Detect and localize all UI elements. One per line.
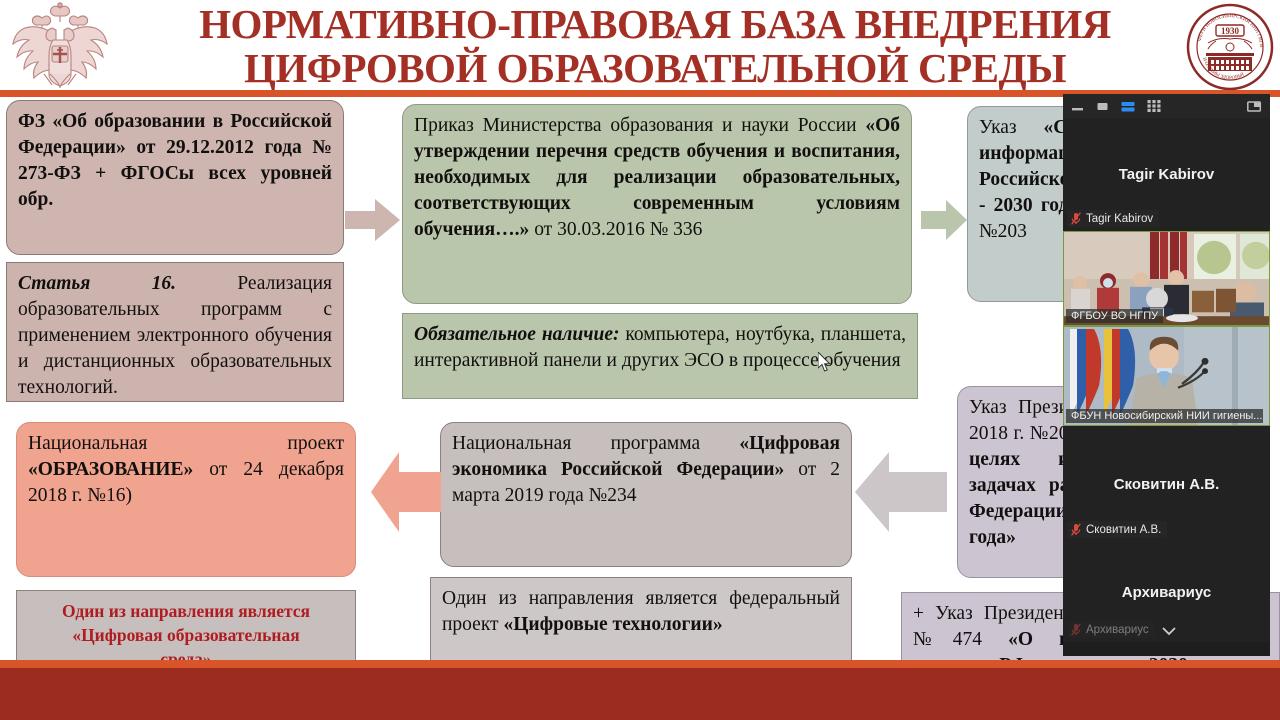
grid-view-icon[interactable] (1147, 99, 1161, 113)
box-federal-law-text: ФЗ «Об образовании в Российской Федераци… (18, 111, 332, 210)
maximize-icon[interactable] (1096, 100, 1109, 113)
box-direction-digital-technologies: Один из направления является федеральный… (430, 577, 852, 661)
arrow-right-order-to-decree (921, 196, 967, 244)
picture-in-picture-icon[interactable] (1247, 100, 1262, 113)
minimize-icon[interactable] (1071, 100, 1084, 113)
mic-muted-icon (1071, 523, 1081, 536)
video-tile-nii-gigieny[interactable]: ФБУН Новосибирский НИИ гигиены... (1063, 326, 1270, 426)
box-digital-economy-program-prefix: Национальная программа (452, 433, 739, 454)
box-national-project-education-quote: «ОБРАЗОВАНИЕ» (28, 459, 193, 480)
box-ministry-order-prefix: Приказ Министерства образования и науки … (414, 115, 865, 136)
video-tile-tagir-kabirov[interactable]: Tagir Kabirov Tagir Kabirov (1063, 118, 1270, 231)
footer-accent-bar (0, 660, 1280, 668)
video-tile-label-text: Архивариус (1086, 624, 1149, 636)
logo-year: 1930 (1221, 26, 1240, 36)
video-panel-toolbar[interactable] (1063, 94, 1270, 118)
box-decree-information-society-prefix: Указ (979, 117, 1044, 138)
slide-title: НОРМАТИВНО-ПРАВОВАЯ БАЗА ВНЕДРЕНИЯ ЦИФРО… (150, 2, 1160, 90)
video-tile-label-text: Сковитин А.В. (1086, 524, 1161, 536)
mic-muted-icon (1071, 212, 1081, 225)
split-view-icon[interactable] (1121, 100, 1135, 113)
box-ministry-order: Приказ Министерства образования и науки … (402, 104, 912, 304)
video-tile-name-label: Архивариус (1067, 621, 1155, 638)
video-tile-name-label: Сковитин А.В. (1067, 521, 1167, 538)
mouse-cursor (818, 352, 832, 373)
video-tile-label-text: Tagir Kabirov (1086, 213, 1153, 225)
arrow-left-decree-to-digital (855, 446, 947, 538)
slide-title-line-1: НОРМАТИВНО-ПРАВОВАЯ БАЗА ВНЕДРЕНИЯ (150, 2, 1160, 46)
box-direction-digital-environment-line-2: «Цифровая образовательная (28, 623, 344, 647)
box-article-16: Статья 16. Реализация образовательных пр… (6, 262, 344, 402)
video-tile-ngpu-label: ФГБОУ ВО НГПУ (1066, 309, 1163, 323)
box-national-project-education-prefix: Национальная проект (28, 433, 344, 454)
video-tile-display-name: Tagir Kabirov (1119, 166, 1215, 183)
box-ministry-order-suffix: от 30.03.2016 № 336 (529, 219, 702, 240)
mic-muted-icon (1071, 623, 1081, 636)
video-tile-name-label: Tagir Kabirov (1067, 210, 1159, 227)
arrow-right-fz-to-order (345, 195, 400, 245)
video-tile-skovitin[interactable]: Сковитин А.В. Сковитин А.В. (1063, 426, 1270, 542)
box-federal-law: ФЗ «Об образовании в Российской Федераци… (6, 100, 344, 255)
footer-bar (0, 668, 1280, 720)
video-tile-arhivarius[interactable]: Архивариус Архивариус (1063, 542, 1270, 642)
box-direction-digital-environment: Один из направления является «Цифровая о… (16, 590, 356, 670)
box-article-16-lead: Статья 16. (18, 273, 176, 294)
slide-canvas: НОРМАТИВНО-ПРАВОВАЯ БАЗА ВНЕДРЕНИЯ ЦИФРО… (0, 0, 1280, 720)
video-tile-nii-gigieny-label: ФБУН Новосибирский НИИ гигиены... (1066, 409, 1263, 423)
video-conference-panel[interactable]: Tagir Kabirov Tagir Kabirov (1063, 94, 1270, 656)
university-logo: ФБУН НОВОСИБИРСКИЙ НИИ ГИГИЕНЫ 1930 (1186, 3, 1274, 91)
box-national-project-education: Национальная проект «ОБРАЗОВАНИЕ» от 24 … (16, 422, 356, 577)
arrow-left-digital-to-education (371, 446, 441, 538)
chevron-down-icon[interactable] (1161, 623, 1175, 632)
box-direction-digital-environment-line-1: Один из направления является (28, 599, 344, 623)
box-direction-digital-technologies-quote: «Цифровые технологии» (503, 614, 722, 635)
slide-title-line-2: ЦИФРОВОЙ ОБРАЗОВАТЕЛЬНОЙ СРЕДЫ (150, 46, 1160, 90)
box-digital-economy-program: Национальная программа «Цифровая экономи… (440, 422, 852, 567)
video-tile-display-name: Архивариус (1122, 584, 1211, 601)
box-required-equipment-lead: Обязательное наличие: (414, 324, 620, 345)
video-tile-ngpu[interactable]: ФГБОУ ВО НГПУ (1063, 231, 1270, 326)
russian-coat-of-arms-emblem (6, 2, 114, 90)
video-tile-display-name: Сковитин А.В. (1114, 476, 1220, 493)
box-required-equipment: Обязательное наличие: компьютера, ноутбу… (402, 313, 918, 399)
